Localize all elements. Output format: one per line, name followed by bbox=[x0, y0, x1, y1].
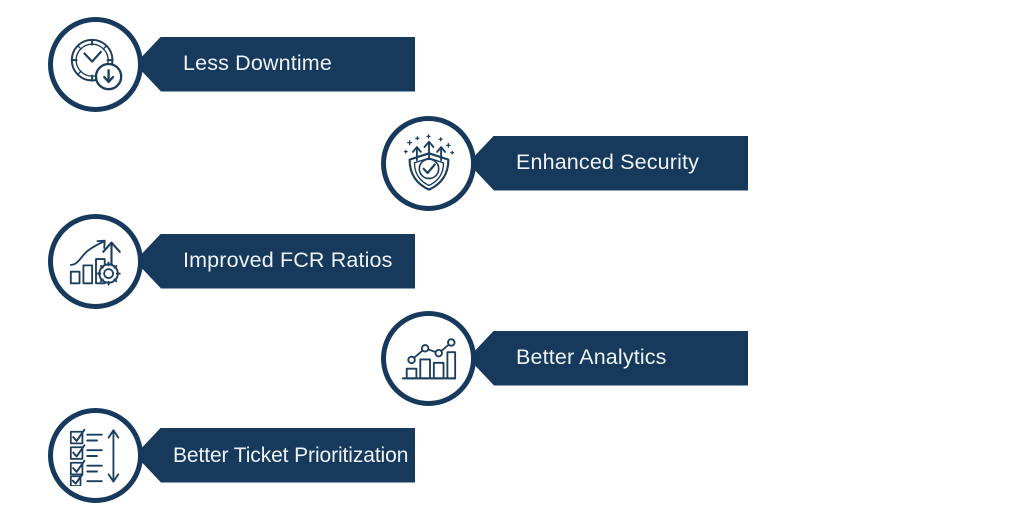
benefit-item-less-downtime[interactable]: Less Downtime bbox=[48, 14, 415, 114]
benefit-item-better-analytics[interactable]: Better Analytics bbox=[381, 308, 748, 408]
benefit-banner[interactable]: Improved FCR Ratios bbox=[135, 234, 415, 289]
benefit-banner[interactable]: Less Downtime bbox=[135, 37, 415, 92]
shield-check-up-arrows-icon bbox=[381, 116, 476, 211]
benefit-item-enhanced-security[interactable]: Enhanced Security bbox=[381, 113, 748, 213]
benefit-banner[interactable]: Better Analytics bbox=[468, 331, 748, 386]
benefit-item-improved-fcr-ratios[interactable]: Improved FCR Ratios bbox=[48, 211, 415, 311]
benefit-label: Enhanced Security bbox=[516, 152, 699, 174]
benefit-label: Better Ticket Prioritization bbox=[173, 445, 408, 466]
benefit-label: Improved FCR Ratios bbox=[183, 250, 393, 272]
bar-chart-growth-gear-icon bbox=[48, 214, 143, 309]
checklist-sort-arrow-icon bbox=[48, 408, 143, 503]
bar-chart-line-graph-icon bbox=[381, 311, 476, 406]
benefit-banner[interactable]: Enhanced Security bbox=[468, 136, 748, 191]
benefit-item-better-ticket-prioritization[interactable]: Better Ticket Prioritization bbox=[48, 405, 415, 505]
clock-down-arrow-icon bbox=[48, 17, 143, 112]
benefit-label: Less Downtime bbox=[183, 53, 332, 75]
benefits-infographic: Less Downtime bbox=[0, 0, 1024, 520]
benefit-banner[interactable]: Better Ticket Prioritization bbox=[135, 428, 415, 483]
benefit-label: Better Analytics bbox=[516, 347, 667, 369]
